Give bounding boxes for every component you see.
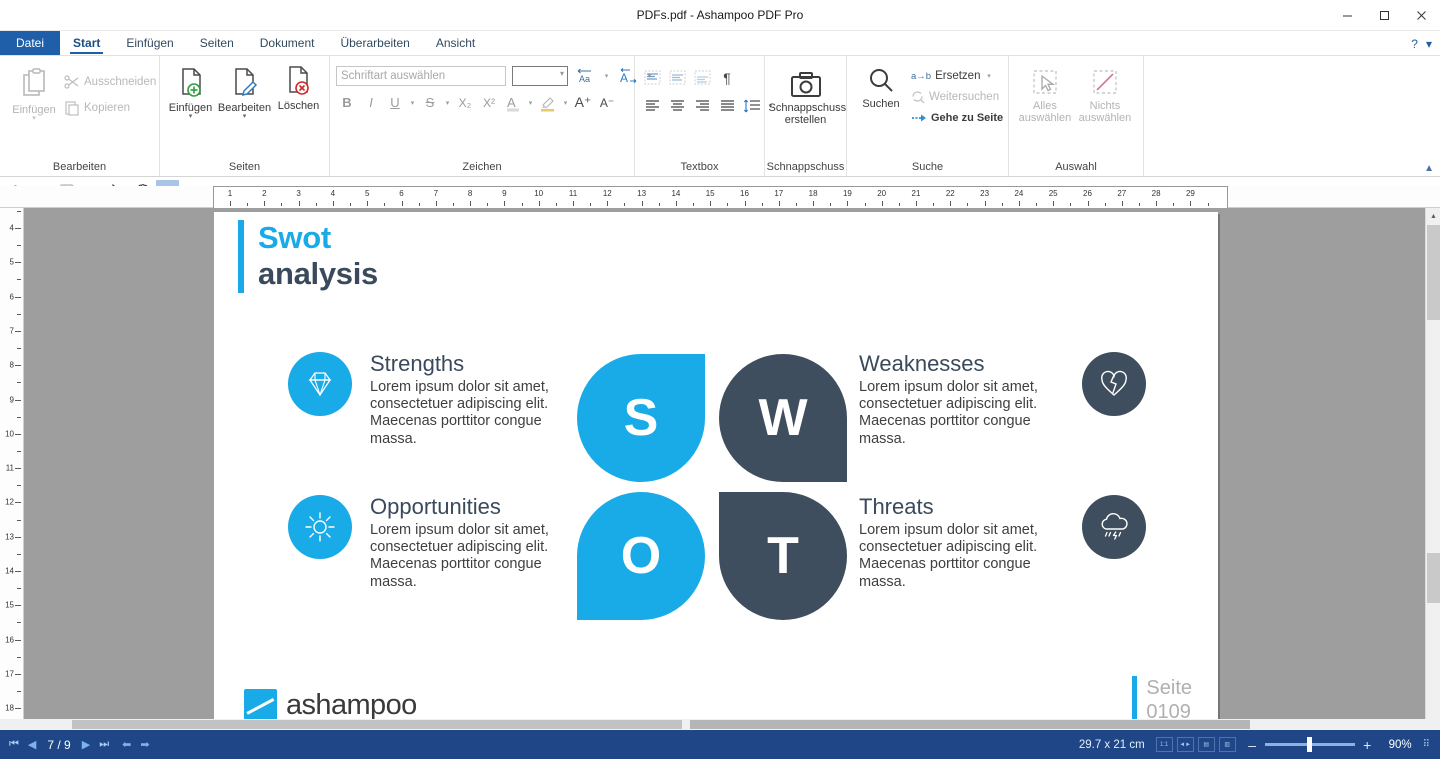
chevron-down-icon[interactable]: ▾ (243, 114, 247, 120)
ruler-tick (847, 201, 848, 206)
chevron-down-icon[interactable]: ▾ (1426, 37, 1432, 51)
menu-item-einfuegen[interactable]: Einfügen (113, 31, 186, 55)
ruler-tick-label: 20 (877, 189, 886, 198)
ruler-tick (985, 201, 986, 206)
vruler-tick-minor (17, 279, 21, 280)
zoom-slider[interactable] (1265, 743, 1355, 746)
title-accent-bar (238, 220, 244, 293)
item-heading: Threats (859, 495, 1064, 519)
ruler-tick-minor (419, 203, 420, 206)
chevron-down-icon[interactable]: ▾ (526, 99, 535, 107)
ruler-tick (1122, 201, 1123, 206)
help-icon[interactable]: ? (1411, 37, 1418, 51)
vruler-tick-minor (17, 657, 21, 658)
help-controls: ? ▾ (1411, 31, 1432, 56)
select-all-label: Alles auswählen (1014, 100, 1076, 124)
prev-page-button[interactable]: ◀ (28, 738, 36, 751)
ribbon-group-bearbeiten: Einfügen ▾ Ausschneiden (0, 56, 160, 176)
menu-item-ueberarbeiten[interactable]: Überarbeiten (327, 31, 422, 55)
next-page-button[interactable]: ▶ (82, 738, 90, 751)
ruler-tick-label: 2 (262, 189, 266, 198)
chevron-down-icon[interactable]: ▾ (32, 116, 36, 122)
vruler-tick (15, 331, 21, 332)
ruler-tick (607, 201, 608, 206)
group-label-textbox: Textbox (635, 161, 764, 176)
ruler-tick-minor (384, 203, 385, 206)
ruler-tick-minor (590, 203, 591, 206)
bold-button[interactable]: B (336, 92, 358, 113)
vruler-tick-minor (17, 485, 21, 486)
menu-item-ansicht[interactable]: Ansicht (423, 31, 488, 55)
vruler-tick-minor (17, 588, 21, 589)
vruler-tick-label: 11 (6, 464, 14, 473)
ruler-tick-minor (727, 203, 728, 206)
chevron-down-icon[interactable]: ▾ (984, 72, 993, 80)
ruler-tick (504, 201, 505, 206)
page-size-label: 29.7 x 21 cm (1079, 739, 1145, 751)
vruler-tick (15, 365, 21, 366)
ruler-tick (745, 201, 746, 206)
vruler-tick-label: 8 (10, 361, 14, 370)
zoom-in-button[interactable]: + (1362, 737, 1373, 753)
copy-button[interactable]: Kopieren (60, 98, 160, 118)
ruler-tick-minor (624, 203, 625, 206)
cut-label: Ausschneiden (84, 76, 156, 88)
find-next-label: Weitersuchen (929, 91, 999, 103)
align-right-button[interactable] (691, 95, 713, 116)
ruler-tick-minor (693, 203, 694, 206)
vruler-tick-label: 7 (10, 326, 14, 335)
vruler-tick-label: 12 (5, 498, 14, 507)
ribbon-group-seiten: Einfügen ▾ Bearbeiten ▾ (160, 56, 330, 176)
menu-bar: Datei Start Einfügen Seiten Dokument Übe… (0, 31, 1440, 56)
edit-page-button[interactable]: Bearbeiten ▾ (219, 64, 271, 122)
ruler-tick-minor (659, 203, 660, 206)
delete-page-label: Löschen (278, 100, 320, 112)
vruler-tick (15, 605, 21, 606)
ruler-tick-label: 7 (434, 189, 438, 198)
vruler-tick-minor (17, 211, 21, 212)
ruler-tick-label: 26 (1083, 189, 1092, 198)
collapse-ribbon-button[interactable]: ▲ (1424, 163, 1434, 174)
align-center-button[interactable] (666, 95, 688, 116)
maximize-button[interactable] (1366, 0, 1403, 31)
replace-label: Ersetzen (935, 70, 980, 82)
ruler-tick-minor (933, 203, 934, 206)
ruler-tick-minor (556, 203, 557, 206)
ruler-tick-minor (350, 203, 351, 206)
ribbon-group-zeichen: Schriftart auswählen Aa ▾ A ▾ (330, 56, 635, 176)
status-bar: ⏮ ◀ 7 / 9 ▶ ⏭ ⬅ ➡ 29.7 x 21 cm 1:1 ◄► ▤ … (0, 730, 1440, 759)
replace-icon: a→b (911, 71, 931, 82)
chevron-down-icon[interactable]: ▾ (189, 114, 193, 120)
horizontal-scroll-thumb[interactable] (72, 720, 682, 729)
ruler-tick-minor (796, 203, 797, 206)
ruler-tick-label: 28 (1152, 189, 1161, 198)
vruler-tick (15, 571, 21, 572)
vruler-tick-minor (17, 554, 21, 555)
scissors-icon (64, 74, 80, 90)
vruler-tick-minor (17, 417, 21, 418)
item-heading: Opportunities (370, 495, 575, 519)
vruler-tick (15, 640, 21, 641)
chevron-down-icon[interactable]: ▾ (561, 99, 570, 107)
back-view-button[interactable]: ⬅ (118, 738, 131, 751)
view-continuous-button[interactable]: ▥ (1219, 737, 1236, 752)
vruler-tick-label: 9 (10, 395, 14, 404)
ruler-tick-minor (865, 203, 866, 206)
ruler-tick-minor (1173, 203, 1174, 206)
ruler-tick-label: 17 (774, 189, 783, 198)
ruler-tick-label: 6 (399, 189, 403, 198)
ruler-tick-minor (1036, 203, 1037, 206)
group-label-suche: Suche (847, 161, 1008, 176)
page-number-accent (1132, 676, 1137, 724)
arrow-right-icon (911, 112, 927, 124)
zoom-slider-thumb[interactable] (1307, 737, 1312, 752)
first-page-button[interactable]: ⏮ (9, 738, 19, 751)
quadrant-t[interactable]: T (719, 492, 847, 620)
document-canvas[interactable]: Swot analysis S W O T (24, 208, 1426, 731)
font-size-select[interactable] (512, 66, 568, 86)
ribbon-group-textbox: ¶ (635, 56, 765, 176)
item-body: Lorem ipsum dolor sit amet, consectetuer… (370, 522, 575, 590)
minimize-button[interactable] (1329, 0, 1366, 31)
search-icon (866, 66, 896, 96)
highlight-button[interactable] (537, 92, 559, 113)
italic-button[interactable]: I (360, 92, 382, 113)
zoom-out-button[interactable]: – (1247, 737, 1258, 753)
title-line-2: analysis (258, 256, 378, 292)
align-top-button[interactable] (641, 67, 663, 88)
ruler-tick-minor (762, 203, 763, 206)
ruler-tick-minor (1208, 203, 1209, 206)
select-all-icon (1030, 68, 1060, 98)
vruler-tick-label: 6 (10, 292, 14, 301)
ruler-tick (367, 201, 368, 206)
paste-button[interactable]: Einfügen ▾ (8, 64, 60, 124)
sun-icon (288, 495, 352, 559)
diamond-icon (288, 352, 352, 416)
ruler-tick (779, 201, 780, 206)
ruler-tick (916, 201, 917, 206)
storm-cloud-icon (1082, 495, 1146, 559)
vruler-tick (15, 400, 21, 401)
page-add-icon (176, 66, 206, 100)
ribbon-group-suche: Suchen a→b Ersetzen ▾ Weitersuchen (847, 56, 1009, 176)
ruler-tick-label: 23 (980, 189, 989, 198)
broken-heart-icon (1082, 352, 1146, 416)
ruler-tick (676, 201, 677, 206)
ruler-tick-label: 12 (603, 189, 612, 198)
select-none-button[interactable]: Nichts auswählen (1075, 66, 1135, 126)
ribbon-group-schnappschuss: Schnappschuss erstellen Schnappschuss (765, 56, 847, 176)
ruler-tick (264, 201, 265, 206)
page-label: Seite (1146, 676, 1192, 700)
ruler-tick (230, 201, 231, 206)
vruler-tick-label: 17 (5, 669, 14, 678)
vruler-tick-label: 18 (5, 704, 14, 713)
delete-page-button[interactable]: Löschen (273, 64, 325, 114)
quadrant-o[interactable]: O (577, 492, 705, 620)
cut-button[interactable]: Ausschneiden (60, 72, 160, 92)
horizontal-ruler-track: 1234567891011121314151617181920212223242… (213, 186, 1228, 208)
ruler-tick-label: 24 (1014, 189, 1023, 198)
vruler-tick-label: 4 (10, 224, 14, 233)
ruler-tick-minor (1105, 203, 1106, 206)
ruler-tick-minor (1139, 203, 1140, 206)
vertical-scroll-thumb-secondary[interactable] (1427, 553, 1440, 603)
ribbon-group-auswahl: Alles auswählen Nichts auswählen Auswahl (1009, 56, 1144, 176)
font-family-select[interactable]: Schriftart auswählen (336, 66, 506, 86)
chevron-down-icon[interactable]: ▾ (443, 99, 452, 107)
vruler-tick-label: 15 (5, 601, 14, 610)
page-delete-icon (284, 64, 314, 98)
quadrant-s[interactable]: S (577, 354, 705, 482)
group-label-seiten: Seiten (160, 161, 329, 176)
group-label-bearbeiten: Bearbeiten (0, 161, 159, 176)
vruler-tick-label: 10 (5, 429, 14, 438)
swot-item-opportunities: Opportunities Lorem ipsum dolor sit amet… (288, 495, 575, 591)
ruler-tick-label: 1 (228, 189, 232, 198)
horizontal-ruler[interactable]: 1234567891011121314151617181920212223242… (0, 186, 1440, 208)
pdf-page[interactable]: Swot analysis S W O T (214, 212, 1218, 731)
title-bar: PDFs.pdf - Ashampoo PDF Pro (0, 0, 1440, 31)
vruler-tick (15, 708, 21, 709)
ruler-tick-minor (830, 203, 831, 206)
swot-item-weaknesses: Weaknesses Lorem ipsum dolor sit amet, c… (859, 352, 1146, 448)
find-next-icon (911, 90, 925, 104)
ruler-tick (1019, 201, 1020, 206)
vruler-tick (15, 468, 21, 469)
forward-view-button[interactable]: ➡ (140, 738, 149, 751)
align-middle-button[interactable] (666, 67, 688, 88)
vruler-tick-minor (17, 245, 21, 246)
ruler-tick (299, 201, 300, 206)
item-heading: Weaknesses (859, 352, 1064, 376)
vruler-tick-minor (17, 314, 21, 315)
ashampoo-logo-icon (244, 689, 277, 722)
view-mode-buttons: 1:1 ◄► ▤ ▥ (1156, 737, 1236, 752)
font-color-button[interactable]: A (502, 92, 524, 113)
copy-label: Kopieren (84, 102, 130, 114)
vruler-tick-minor (17, 520, 21, 521)
paragraph-marks-button[interactable]: ¶ (716, 67, 738, 88)
ruler-tick-label: 22 (946, 189, 955, 198)
ruler-tick (813, 201, 814, 206)
select-all-button[interactable]: Alles auswählen (1017, 66, 1073, 126)
snapshot-button[interactable]: Schnappschuss erstellen (767, 68, 845, 128)
ruler-tick-label: 16 (740, 189, 749, 198)
vruler-tick-label: 14 (5, 567, 14, 576)
vruler-tick-minor (17, 382, 21, 383)
ruler-tick-label: 15 (706, 189, 715, 198)
insert-page-button[interactable]: Einfügen ▾ (165, 64, 217, 122)
ruler-tick-label: 18 (809, 189, 818, 198)
ruler-tick-label: 9 (502, 189, 506, 198)
ruler-tick (402, 201, 403, 206)
page-title: Swot analysis (238, 220, 378, 293)
ruler-tick-label: 5 (365, 189, 369, 198)
item-body: Lorem ipsum dolor sit amet, consectetuer… (859, 522, 1064, 590)
view-actual-size-button[interactable]: 1:1 (1156, 737, 1173, 752)
vertical-scrollbar[interactable]: ▲ ▼ (1425, 208, 1440, 731)
shrink-font-button[interactable]: A⁻ (596, 92, 618, 113)
ruler-tick-label: 25 (1049, 189, 1058, 198)
zoom-control: – + 90% (1247, 737, 1412, 753)
scroll-up-button[interactable]: ▲ (1426, 208, 1440, 224)
camera-icon (789, 70, 823, 100)
line-spacing-button[interactable] (741, 95, 763, 116)
ashampoo-logo: ashampoo (244, 689, 417, 722)
superscript-button[interactable]: X² (478, 92, 500, 113)
strikethrough-button[interactable]: S (419, 92, 441, 113)
search-button[interactable]: Suchen (855, 64, 907, 112)
page-edit-icon (230, 66, 260, 100)
item-body: Lorem ipsum dolor sit amet, consectetuer… (859, 379, 1064, 447)
menu-item-seiten[interactable]: Seiten (187, 31, 247, 55)
ruler-tick (882, 201, 883, 206)
page-indicator[interactable]: 7 / 9 (45, 738, 72, 752)
window-controls (1329, 0, 1440, 31)
swot-item-threats: Threats Lorem ipsum dolor sit amet, cons… (859, 495, 1146, 591)
group-label-zeichen: Zeichen (330, 161, 634, 176)
vruler-tick-label: 16 (5, 635, 14, 644)
copy-icon (64, 100, 80, 116)
ribbon-toolbar: Einfügen ▾ Ausschneiden (0, 56, 1440, 177)
ruler-tick (539, 201, 540, 206)
item-heading: Strengths (370, 352, 575, 376)
select-none-label: Nichts auswählen (1071, 100, 1139, 124)
clipboard-icon (19, 68, 49, 102)
svg-text:A: A (620, 71, 628, 84)
group-label-schnappschuss: Schnappschuss (765, 161, 846, 176)
vruler-tick-label: 5 (10, 258, 14, 267)
select-none-icon (1090, 68, 1120, 98)
menu-item-dokument[interactable]: Dokument (247, 31, 328, 55)
ruler-tick-label: 14 (671, 189, 680, 198)
ruler-tick (710, 201, 711, 206)
goto-page-button[interactable]: Gehe zu Seite (907, 110, 1007, 126)
resize-grip-icon[interactable]: ⠿ (1423, 739, 1430, 750)
ruler-tick-minor (1002, 203, 1003, 206)
svg-text:A: A (507, 95, 516, 110)
ruler-tick (1156, 201, 1157, 206)
search-label: Suchen (862, 98, 899, 110)
vruler-tick (15, 434, 21, 435)
view-single-page-button[interactable]: ▤ (1198, 737, 1215, 752)
window-title: PDFs.pdf - Ashampoo PDF Pro (0, 0, 1440, 31)
view-fit-width-button[interactable]: ◄► (1177, 737, 1194, 752)
menu-item-datei[interactable]: Datei (0, 31, 60, 55)
ruler-tick-minor (316, 203, 317, 206)
vruler-tick-minor (17, 622, 21, 623)
horizontal-scroll-thumb-secondary[interactable] (690, 720, 1250, 729)
ruler-tick-minor (967, 203, 968, 206)
horizontal-scrollbar[interactable] (0, 719, 1440, 730)
vertical-ruler[interactable]: 456789101112131415161718 (0, 208, 24, 731)
replace-button[interactable]: a→b Ersetzen ▾ (907, 68, 1007, 84)
ruler-tick-minor (899, 203, 900, 206)
ruler-tick-minor (247, 203, 248, 206)
vruler-tick-minor (17, 348, 21, 349)
title-line-1: Swot (258, 220, 378, 256)
align-left-button[interactable] (641, 95, 663, 116)
ruler-tick-minor (453, 203, 454, 206)
ruler-tick (470, 201, 471, 206)
ruler-tick-minor (522, 203, 523, 206)
status-right-group: 29.7 x 21 cm 1:1 ◄► ▤ ▥ – + 90% ⠿ (1079, 737, 1440, 753)
ruler-tick (1053, 201, 1054, 206)
ruler-tick-label: 11 (569, 189, 577, 198)
ruler-tick-label: 4 (331, 189, 335, 198)
vruler-tick (15, 502, 21, 503)
vruler-tick (15, 228, 21, 229)
change-case-icon[interactable]: Aa (574, 65, 596, 86)
ashampoo-logo-text: ashampoo (286, 689, 417, 722)
ruler-tick-minor (487, 203, 488, 206)
last-page-button[interactable]: ⏭ (99, 738, 109, 751)
ruler-tick-label: 19 (843, 189, 852, 198)
vruler-tick-label: 13 (5, 532, 14, 541)
grow-font-button[interactable]: A⁺ (572, 92, 594, 113)
ruler-tick-label: 13 (637, 189, 646, 198)
swot-quadrants: S W O T (577, 354, 847, 620)
ruler-tick (573, 201, 574, 206)
ruler-tick-label: 29 (1186, 189, 1195, 198)
ruler-tick-label: 10 (534, 189, 543, 198)
ruler-tick (642, 201, 643, 206)
menu-item-start[interactable]: Start (60, 31, 113, 55)
justify-button[interactable] (716, 95, 738, 116)
close-button[interactable] (1403, 0, 1440, 31)
ruler-tick (436, 201, 437, 206)
vruler-tick (15, 537, 21, 538)
goto-page-label: Gehe zu Seite (931, 112, 1003, 124)
chevron-down-icon[interactable]: ▾ (408, 99, 417, 107)
vertical-scroll-thumb[interactable] (1427, 225, 1440, 320)
ruler-tick-label: 3 (296, 189, 300, 198)
page-number-block: Seite 0109 (1132, 676, 1192, 724)
ruler-tick-label: 8 (468, 189, 472, 198)
vruler-tick (15, 674, 21, 675)
subscript-button[interactable]: X₂ (454, 92, 476, 113)
vruler-tick (15, 297, 21, 298)
ruler-tick (333, 201, 334, 206)
align-bottom-button[interactable] (691, 67, 713, 88)
chevron-down-icon[interactable]: ▾ (602, 72, 611, 80)
vruler-tick (15, 262, 21, 263)
item-body: Lorem ipsum dolor sit amet, consectetuer… (370, 379, 575, 447)
ruler-tick (950, 201, 951, 206)
quadrant-w[interactable]: W (719, 354, 847, 482)
zoom-level-label: 90% (1380, 739, 1412, 751)
ruler-tick-label: 21 (912, 189, 921, 198)
page-navigation: ⏮ ◀ 7 / 9 ▶ ⏭ ⬅ ➡ (0, 738, 150, 752)
ruler-tick-minor (281, 203, 282, 206)
ruler-tick (1190, 201, 1191, 206)
underline-button[interactable]: U (384, 92, 406, 113)
snapshot-label: Schnappschuss erstellen (769, 102, 843, 126)
ruler-tick-minor (1070, 203, 1071, 206)
swot-item-strengths: Strengths Lorem ipsum dolor sit amet, co… (288, 352, 575, 448)
find-next-button[interactable]: Weitersuchen (907, 88, 1007, 106)
ruler-tick (1088, 201, 1089, 206)
svg-text:Aa: Aa (579, 74, 590, 84)
vruler-tick-minor (17, 451, 21, 452)
ruler-tick-label: 27 (1117, 189, 1126, 198)
vruler-tick-minor (17, 691, 21, 692)
